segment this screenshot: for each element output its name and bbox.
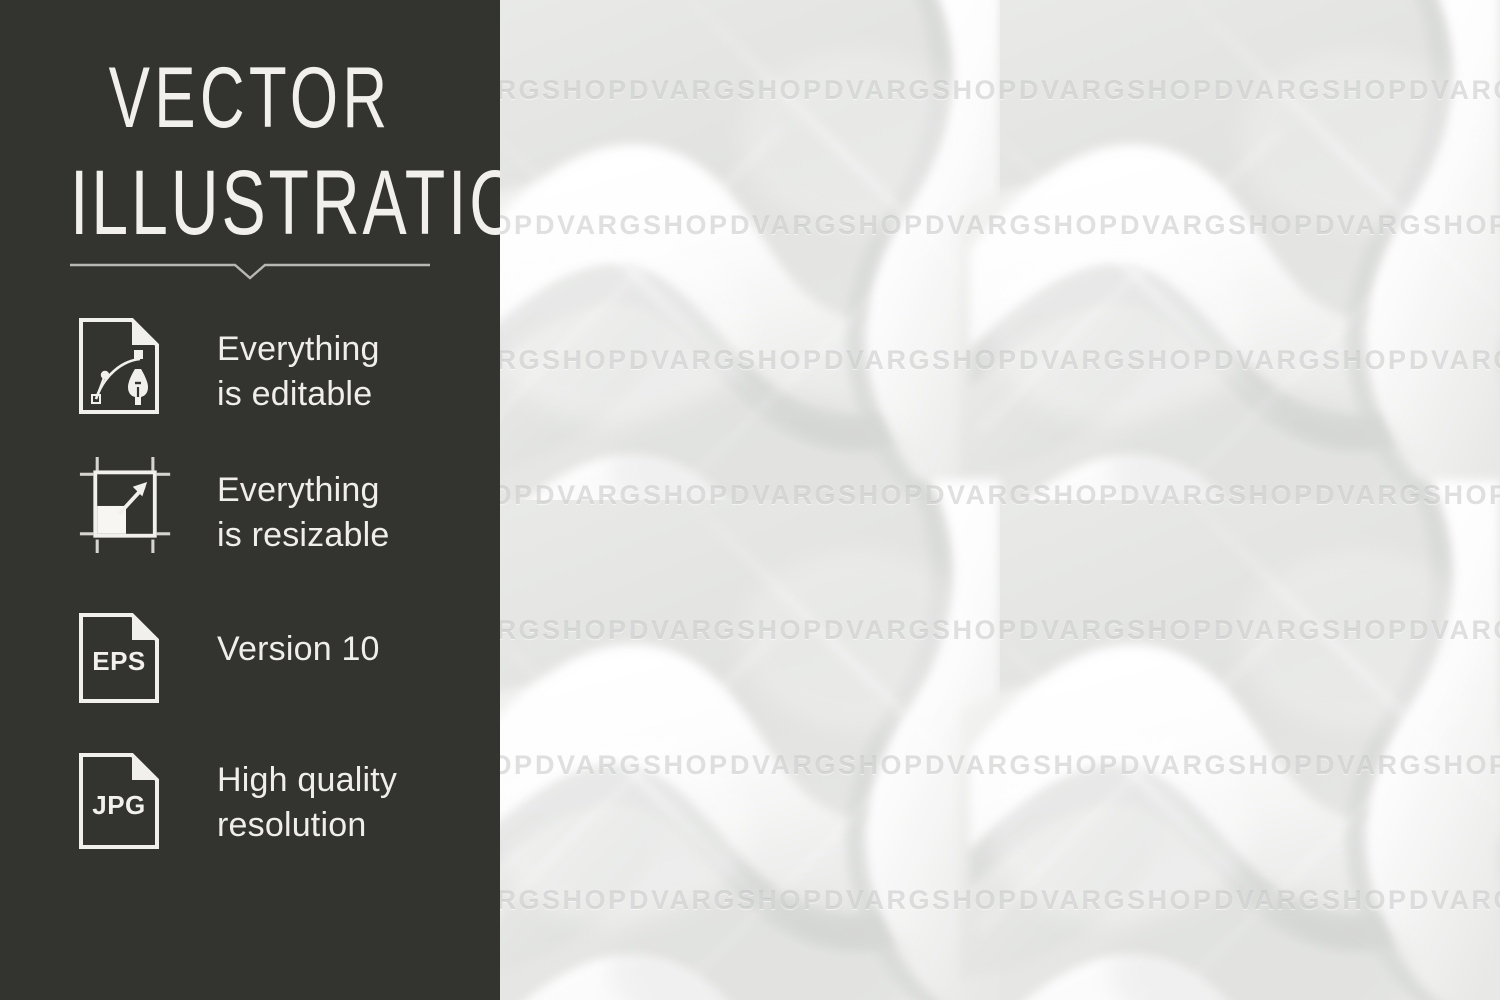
feature-item-resizable: Everything is resizable [0,450,500,595]
feature-label-line2: is editable [217,372,487,417]
feature-label-line1: Version 10 [217,630,380,668]
feature-label-line1: Everything [217,330,380,368]
resize-crop-arrow-icon [78,452,174,557]
feature-list: Everything is editable [0,305,500,885]
feature-label-line1: High quality [217,761,397,799]
feature-label-line2: resolution [217,803,487,848]
jpg-file-icon: JPG [78,748,174,853]
feature-label-quality: High quality resolution [217,758,487,848]
feature-label-editable: Everything is editable [217,327,487,417]
abstract-wave-pattern [500,0,1500,1000]
page-title-line2: ILLUSTRATION [70,157,430,249]
jpg-file-icon-text: JPG [92,790,146,820]
preview-canvas: VECTOR ILLUSTRATION [0,0,1500,1000]
feature-label-line1: Everything [217,471,380,509]
info-panel: VECTOR ILLUSTRATION [0,0,500,1000]
feature-item-version: EPS Version 10 [0,595,500,740]
feature-item-quality: JPG High quality resolution [0,740,500,885]
feature-label-line2: is resizable [217,513,487,558]
feature-label-version: Version 10 [217,627,487,672]
page-title-line1: VECTOR [70,55,430,141]
title-divider [70,258,430,284]
document-pen-tool-icon [78,313,174,418]
feature-label-resizable: Everything is resizable [217,468,487,558]
artwork-preview: DVARGSHOPDVARGSHOPDVARGSHOPDVARGSHOPDVAR… [500,0,1500,1000]
eps-file-icon: EPS [78,605,174,710]
feature-item-editable: Everything is editable [0,305,500,450]
title-block: VECTOR ILLUSTRATION [0,55,500,249]
eps-file-icon-text: EPS [92,646,146,676]
